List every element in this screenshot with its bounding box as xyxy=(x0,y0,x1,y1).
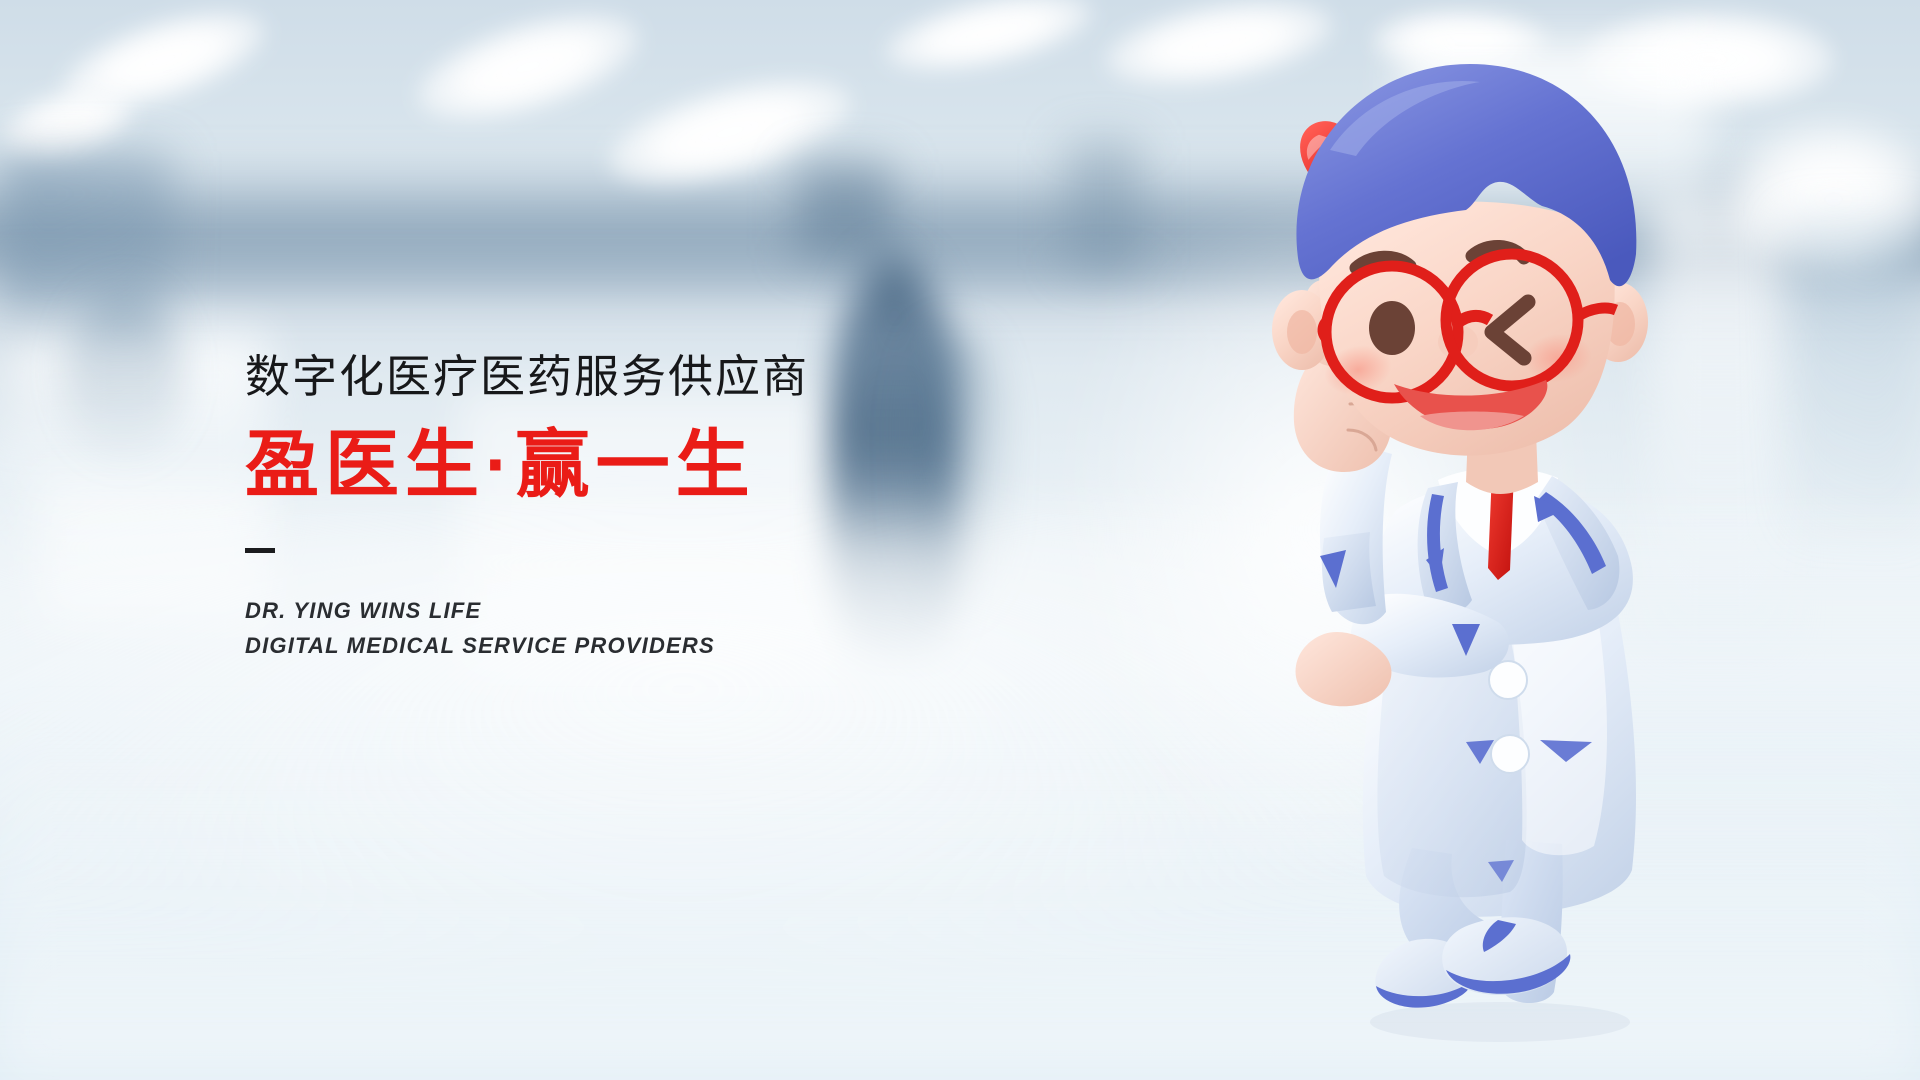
background-object-silhouette-left xyxy=(67,292,182,465)
subtitle-block: DR. YING WINS LIFE DIGITAL MEDICAL SERVI… xyxy=(245,593,1005,664)
page-slogan: 盈医生·赢一生 xyxy=(245,424,1005,505)
background-panel-doorway xyxy=(797,162,893,259)
divider-rule xyxy=(245,548,275,553)
hero-copy-block: 数字化医疗医药服务供应商 盈医生·赢一生 DR. YING WINS LIFE … xyxy=(245,352,1005,664)
doctor-mascot-illustration xyxy=(1180,40,1820,1050)
page-headline: 数字化医疗医药服务供应商 xyxy=(245,352,1005,402)
mascot-eye-open xyxy=(1369,301,1415,355)
mascot-ear-inner-left xyxy=(1287,310,1317,354)
banner-stage: 数字化医疗医药服务供应商 盈医生·赢一生 DR. YING WINS LIFE … xyxy=(0,0,1920,1080)
mascot-coat-button xyxy=(1491,735,1529,773)
subtitle-line-2: DIGITAL MEDICAL SERVICE PROVIDERS xyxy=(245,628,1005,664)
mascot-shadow xyxy=(1370,1002,1630,1042)
subtitle-line-1: DR. YING WINS LIFE xyxy=(245,593,1005,629)
